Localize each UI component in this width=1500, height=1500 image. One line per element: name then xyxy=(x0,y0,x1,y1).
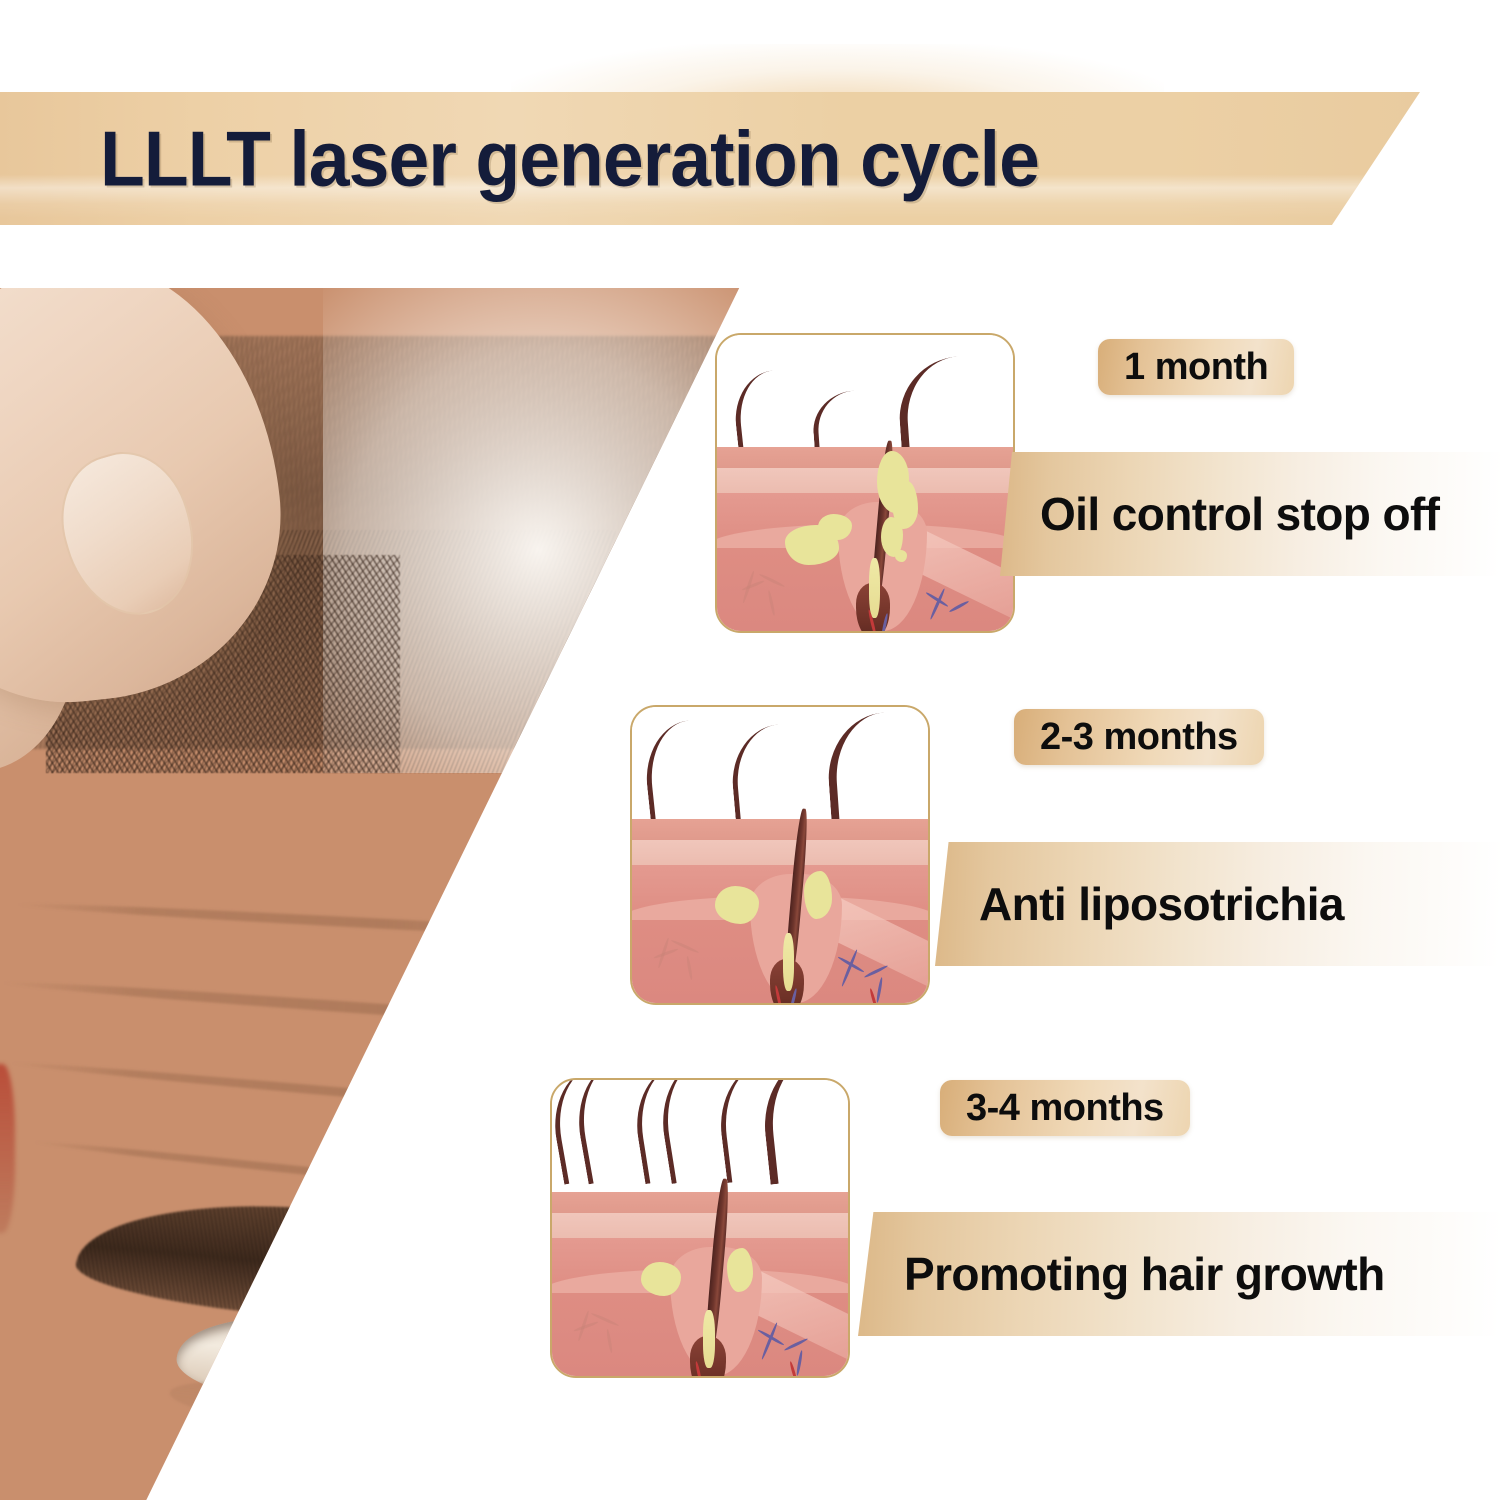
diagram-skin-layers xyxy=(552,1192,848,1376)
step-badge-1: 1 month xyxy=(1098,339,1294,395)
hair-strand-icon xyxy=(758,1078,850,1185)
hair-papilla xyxy=(703,1310,715,1368)
sebum-blob xyxy=(804,871,832,919)
diagram-skin-layers xyxy=(632,819,928,1003)
capillary xyxy=(686,956,693,980)
follicle-diagram-2 xyxy=(630,705,930,1005)
follicle-diagram-1 xyxy=(715,333,1015,633)
title-banner: LLLT laser generation cycle xyxy=(0,92,1420,225)
step-description-label: Promoting hair growth xyxy=(904,1247,1385,1301)
capillary xyxy=(741,580,764,592)
photo-pupil xyxy=(280,1338,337,1390)
step-badge-label: 1 month xyxy=(1124,346,1268,389)
hair-papilla xyxy=(783,933,794,991)
photo-eye-glint xyxy=(310,1338,379,1390)
step-description-bar-1: Oil control stop off xyxy=(1000,452,1500,576)
capillary xyxy=(606,1329,613,1353)
step-badge-2: 2-3 months xyxy=(1014,709,1264,765)
sebum-blob xyxy=(727,1248,753,1292)
capillary xyxy=(768,590,776,616)
photo-iris xyxy=(249,1319,362,1410)
hair-papilla xyxy=(869,558,880,618)
photo-lower-eyelid xyxy=(168,1372,425,1441)
follicle-diagram-3 xyxy=(550,1078,850,1378)
step-description-label: Oil control stop off xyxy=(1040,487,1439,541)
step-badge-label: 3-4 months xyxy=(966,1087,1164,1130)
diagram-skin-layers xyxy=(717,447,1013,631)
step-description-label: Anti liposotrichia xyxy=(979,877,1344,931)
capillary xyxy=(591,1312,620,1327)
epidermis-layer xyxy=(717,447,1013,469)
step-description-bar-3: Promoting hair growth xyxy=(858,1212,1500,1336)
epidermis-layer xyxy=(632,819,928,841)
sebum-blob xyxy=(818,514,852,540)
epidermis-layer xyxy=(552,1192,848,1214)
capillary xyxy=(671,939,700,954)
step-description-bar-2: Anti liposotrichia xyxy=(935,842,1500,966)
sebum-blob xyxy=(715,886,759,924)
page-title: LLLT laser generation cycle xyxy=(100,113,1039,204)
step-badge-3: 3-4 months xyxy=(940,1080,1190,1136)
step-badge-label: 2-3 months xyxy=(1040,716,1238,759)
sebum-droplet xyxy=(895,550,907,562)
